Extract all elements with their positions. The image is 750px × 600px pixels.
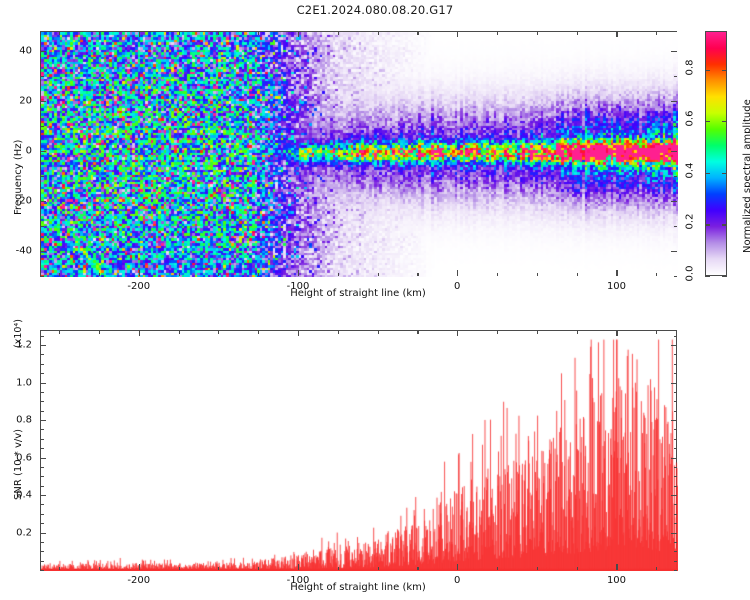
spectrogram-x-minor-tick xyxy=(537,273,538,277)
snr-x-minor-tick xyxy=(99,567,100,571)
spectrogram-x-minor-tick xyxy=(179,273,180,277)
snr-x-minor-tick-top xyxy=(179,330,180,334)
spectrogram-y-minor-tick xyxy=(40,226,44,227)
snr-y-minor-tick-right xyxy=(674,523,678,524)
snr-x-major-tick xyxy=(139,564,140,570)
snr-x-minor-tick-top xyxy=(218,330,219,334)
snr-y-minor-tick xyxy=(40,467,44,468)
snr-y-minor-tick-right xyxy=(674,551,678,552)
spectrogram-y-major-tick xyxy=(40,151,46,152)
snr-x-minor-tick-top xyxy=(99,330,100,334)
snr-x-minor-tick xyxy=(179,567,180,571)
spectrogram-y-tick-label: 20 xyxy=(0,96,32,107)
spectrogram-x-minor-tick-top xyxy=(258,31,259,35)
snr-y-axis-label: SNR (10 * v/v) xyxy=(13,429,24,500)
snr-y-tick-label: 1.0 xyxy=(0,377,32,388)
spectrogram-y-minor-tick xyxy=(40,176,44,177)
spectrogram-image xyxy=(41,32,678,277)
snr-plot-area xyxy=(40,330,677,570)
snr-x-minor-tick xyxy=(417,567,418,571)
snr-y-minor-tick xyxy=(40,448,44,449)
snr-x-minor-tick xyxy=(218,567,219,571)
snr-y-minor-tick xyxy=(40,354,44,355)
colorbar-tick xyxy=(722,276,727,277)
snr-y-minor-tick-right xyxy=(674,392,678,393)
colorbar-tick-label: 0.0 xyxy=(685,263,696,285)
spectrogram-x-minor-tick-top xyxy=(497,31,498,35)
spectrogram-x-minor-tick xyxy=(99,273,100,277)
snr-x-minor-tick xyxy=(378,567,379,571)
snr-y-major-tick-right xyxy=(671,345,677,346)
colorbar-tick xyxy=(705,173,710,174)
colorbar-tick-label: 0.6 xyxy=(685,108,696,130)
colorbar-tick xyxy=(705,121,710,122)
spectrogram-x-minor-tick xyxy=(378,273,379,277)
snr-y-tick-label: 0.2 xyxy=(0,527,32,538)
spectrogram-y-minor-tick xyxy=(40,76,44,77)
snr-y-minor-tick xyxy=(40,476,44,477)
snr-x-tick-label: -200 xyxy=(127,575,150,586)
snr-x-minor-tick xyxy=(577,567,578,571)
snr-y-major-tick-right xyxy=(671,458,677,459)
spectrogram-x-major-tick xyxy=(457,270,458,276)
snr-y-minor-tick xyxy=(40,401,44,402)
spectrogram-x-minor-tick-top xyxy=(179,31,180,35)
colorbar-label: Normalized spectral amplitude xyxy=(742,99,750,253)
snr-y-minor-tick xyxy=(40,364,44,365)
spectrogram-x-minor-tick xyxy=(258,273,259,277)
spectrogram-y-tick-label: -40 xyxy=(0,246,32,257)
snr-y-minor-tick xyxy=(40,551,44,552)
spectrogram-y-major-tick xyxy=(40,251,46,252)
snr-x-major-tick xyxy=(616,564,617,570)
snr-y-major-tick xyxy=(40,420,46,421)
spectrogram-x-tick-label: 0 xyxy=(454,281,460,292)
colorbar-tick xyxy=(705,224,710,225)
snr-x-minor-tick xyxy=(59,567,60,571)
snr-y-major-tick xyxy=(40,383,46,384)
spectrogram-y-major-tick xyxy=(40,101,46,102)
snr-y-minor-tick-right xyxy=(674,486,678,487)
colorbar-tick-label: 0.8 xyxy=(685,56,696,78)
snr-y-multiplier: (x10⁴) xyxy=(13,319,24,348)
spectrogram-y-minor-tick xyxy=(40,276,44,277)
snr-y-minor-tick-right xyxy=(674,561,678,562)
spectrogram-x-major-tick xyxy=(139,270,140,276)
snr-x-major-tick xyxy=(298,564,299,570)
spectrogram-y-minor-tick-right xyxy=(674,126,678,127)
snr-x-minor-tick-top xyxy=(577,330,578,334)
snr-y-minor-tick xyxy=(40,411,44,412)
snr-x-major-tick xyxy=(457,564,458,570)
colorbar-tick xyxy=(705,70,710,71)
spectrogram-y-major-tick-right xyxy=(671,201,677,202)
snr-x-major-tick-top xyxy=(298,330,299,336)
spectrogram-x-minor-tick-top xyxy=(218,31,219,35)
spectrogram-x-axis-label: Height of straight line (km) xyxy=(290,288,426,299)
colorbar-tick-label: 0.2 xyxy=(685,211,696,233)
spectrogram-x-minor-tick-top xyxy=(577,31,578,35)
spectrogram-y-major-tick-right xyxy=(671,51,677,52)
spectrogram-x-minor-tick-top xyxy=(378,31,379,35)
spectrogram-y-minor-tick xyxy=(40,126,44,127)
snr-y-minor-tick xyxy=(40,561,44,562)
snr-y-minor-tick-right xyxy=(674,401,678,402)
snr-x-major-tick-top xyxy=(139,330,140,336)
snr-y-minor-tick xyxy=(40,570,44,571)
spectrogram-x-major-tick xyxy=(616,270,617,276)
snr-y-minor-tick-right xyxy=(674,570,678,571)
figure-canvas: C2E1.2024.080.08.20.G17 -200-1000100-40-… xyxy=(0,0,750,600)
snr-x-minor-tick-top xyxy=(59,330,60,334)
snr-y-minor-tick xyxy=(40,542,44,543)
spectrogram-x-minor-tick-top xyxy=(537,31,538,35)
snr-x-minor-tick-top xyxy=(417,330,418,334)
snr-x-minor-tick-top xyxy=(656,330,657,334)
snr-y-minor-tick-right xyxy=(674,364,678,365)
snr-y-minor-tick-right xyxy=(674,354,678,355)
snr-y-major-tick-right xyxy=(671,383,677,384)
spectrogram-x-minor-tick-top xyxy=(417,31,418,35)
snr-x-minor-tick-top xyxy=(537,330,538,334)
snr-y-minor-tick-right xyxy=(674,504,678,505)
spectrogram-y-minor-tick-right xyxy=(674,276,678,277)
spectrogram-x-minor-tick xyxy=(497,273,498,277)
snr-x-minor-tick xyxy=(338,567,339,571)
colorbar-tick xyxy=(722,70,727,71)
snr-y-minor-tick-right xyxy=(674,373,678,374)
spectrogram-y-major-tick xyxy=(40,201,46,202)
snr-y-minor-tick-right xyxy=(674,467,678,468)
snr-x-tick-label: 100 xyxy=(607,575,626,586)
snr-x-major-tick-top xyxy=(457,330,458,336)
snr-y-minor-tick-right xyxy=(674,514,678,515)
spectrogram-x-major-tick xyxy=(298,270,299,276)
snr-x-minor-tick xyxy=(537,567,538,571)
snr-y-major-tick-right xyxy=(671,533,677,534)
snr-y-minor-tick xyxy=(40,429,44,430)
snr-x-axis-label: Height of straight line (km) xyxy=(290,582,426,593)
spectrogram-x-minor-tick-top xyxy=(59,31,60,35)
snr-x-minor-tick-top xyxy=(497,330,498,334)
snr-y-minor-tick xyxy=(40,504,44,505)
colorbar-tick-label: 0.4 xyxy=(685,159,696,181)
snr-y-minor-tick xyxy=(40,486,44,487)
spectrogram-x-minor-tick xyxy=(218,273,219,277)
spectrogram-x-minor-tick xyxy=(417,273,418,277)
spectrogram-y-axis-label: Frequency (Hz) xyxy=(13,140,24,215)
spectrogram-x-major-tick-top xyxy=(298,31,299,37)
spectrogram-y-major-tick xyxy=(40,51,46,52)
spectrogram-y-minor-tick-right xyxy=(674,76,678,77)
spectrogram-x-minor-tick xyxy=(338,273,339,277)
spectrogram-y-minor-tick-right xyxy=(674,176,678,177)
snr-x-minor-tick xyxy=(656,567,657,571)
snr-x-minor-tick xyxy=(497,567,498,571)
snr-x-minor-tick-top xyxy=(378,330,379,334)
snr-x-minor-tick xyxy=(258,567,259,571)
spectrogram-x-major-tick-top xyxy=(139,31,140,37)
snr-y-major-tick xyxy=(40,533,46,534)
snr-y-minor-tick-right xyxy=(674,542,678,543)
snr-y-minor-tick xyxy=(40,373,44,374)
spectrogram-y-minor-tick-right xyxy=(674,226,678,227)
snr-y-minor-tick-right xyxy=(674,448,678,449)
spectrogram-x-major-tick-top xyxy=(616,31,617,37)
spectrogram-x-tick-label: -200 xyxy=(127,281,150,292)
snr-x-minor-tick-top xyxy=(338,330,339,334)
colorbar-gradient xyxy=(706,32,726,275)
snr-y-minor-tick-right xyxy=(674,336,678,337)
colorbar-tick xyxy=(705,276,710,277)
colorbar-tick xyxy=(722,224,727,225)
snr-y-minor-tick-right xyxy=(674,476,678,477)
colorbar-tick xyxy=(722,121,727,122)
snr-y-minor-tick xyxy=(40,336,44,337)
snr-y-minor-tick-right xyxy=(674,411,678,412)
snr-y-minor-tick xyxy=(40,523,44,524)
colorbar xyxy=(705,31,727,276)
snr-x-major-tick-top xyxy=(616,330,617,336)
snr-y-minor-tick xyxy=(40,392,44,393)
snr-x-minor-tick-top xyxy=(258,330,259,334)
snr-y-minor-tick xyxy=(40,514,44,515)
snr-y-minor-tick-right xyxy=(674,429,678,430)
colorbar-tick xyxy=(722,173,727,174)
snr-y-major-tick-right xyxy=(671,495,677,496)
spectrogram-y-tick-label: 40 xyxy=(0,46,32,57)
spectrogram-plot-area xyxy=(40,31,677,276)
spectrogram-x-minor-tick-top xyxy=(99,31,100,35)
snr-x-tick-label: 0 xyxy=(454,575,460,586)
snr-y-major-tick xyxy=(40,345,46,346)
spectrogram-x-minor-tick xyxy=(656,273,657,277)
snr-y-major-tick-right xyxy=(671,420,677,421)
figure-title: C2E1.2024.080.08.20.G17 xyxy=(0,3,750,17)
snr-y-major-tick xyxy=(40,495,46,496)
snr-y-minor-tick xyxy=(40,439,44,440)
snr-trace xyxy=(41,331,678,571)
spectrogram-y-major-tick-right xyxy=(671,151,677,152)
spectrogram-x-tick-label: 100 xyxy=(607,281,626,292)
spectrogram-y-major-tick-right xyxy=(671,251,677,252)
spectrogram-x-minor-tick-top xyxy=(338,31,339,35)
snr-y-minor-tick-right xyxy=(674,439,678,440)
spectrogram-x-minor-tick xyxy=(59,273,60,277)
spectrogram-x-major-tick-top xyxy=(457,31,458,37)
spectrogram-x-minor-tick-top xyxy=(656,31,657,35)
spectrogram-x-minor-tick xyxy=(577,273,578,277)
spectrogram-y-major-tick-right xyxy=(671,101,677,102)
snr-y-major-tick xyxy=(40,458,46,459)
snr-y-tick-label: 0.8 xyxy=(0,415,32,426)
